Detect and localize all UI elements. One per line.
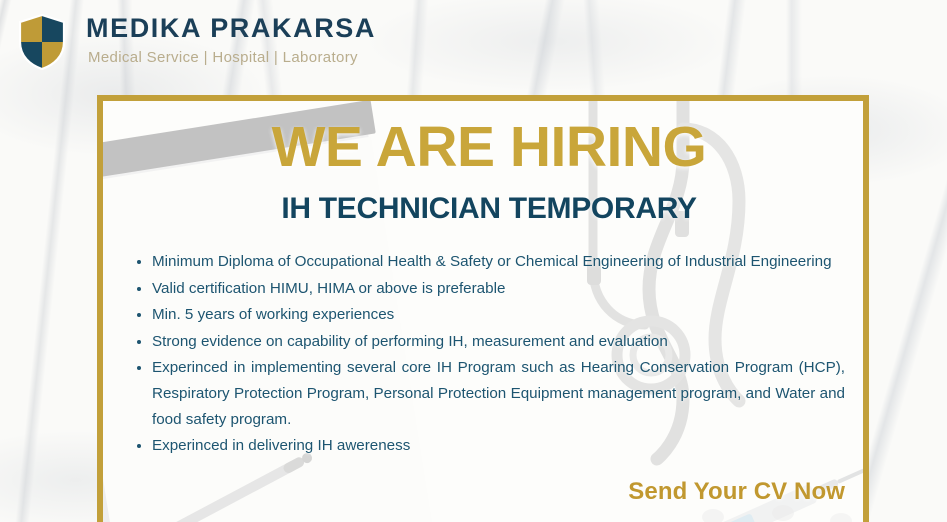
list-item: Experinced in delivering IH awereness: [133, 433, 845, 459]
list-item: Experinced in implementing several core …: [133, 355, 845, 432]
page-title: WE ARE HIRING: [103, 119, 869, 176]
brand-name: MEDIKA PRAKARSA: [86, 15, 376, 42]
list-item: Strong evidence on capability of perform…: [133, 329, 845, 355]
brand-header: MEDIKA PRAKARSA Medical Service | Hospit…: [0, 0, 947, 92]
job-posting-poster: MEDIKA PRAKARSA Medical Service | Hospit…: [0, 0, 947, 522]
list-item: Min. 5 years of working experiences: [133, 302, 845, 328]
list-item: Minimum Diploma of Occupational Health &…: [133, 249, 845, 275]
shield-icon: [18, 14, 66, 70]
brand-tagline: Medical Service | Hospital | Laboratory: [88, 50, 358, 65]
list-item: Valid certification HIMU, HIMA or above …: [133, 276, 845, 302]
requirements-list: Minimum Diploma of Occupational Health &…: [133, 249, 845, 460]
poster-card: WE ARE HIRING IH TECHNICIAN TEMPORARY Mi…: [97, 95, 869, 522]
card-content: WE ARE HIRING IH TECHNICIAN TEMPORARY Mi…: [103, 101, 863, 522]
job-title: IH TECHNICIAN TEMPORARY: [103, 194, 869, 224]
call-to-action-text: Send Your CV Now: [103, 480, 845, 504]
